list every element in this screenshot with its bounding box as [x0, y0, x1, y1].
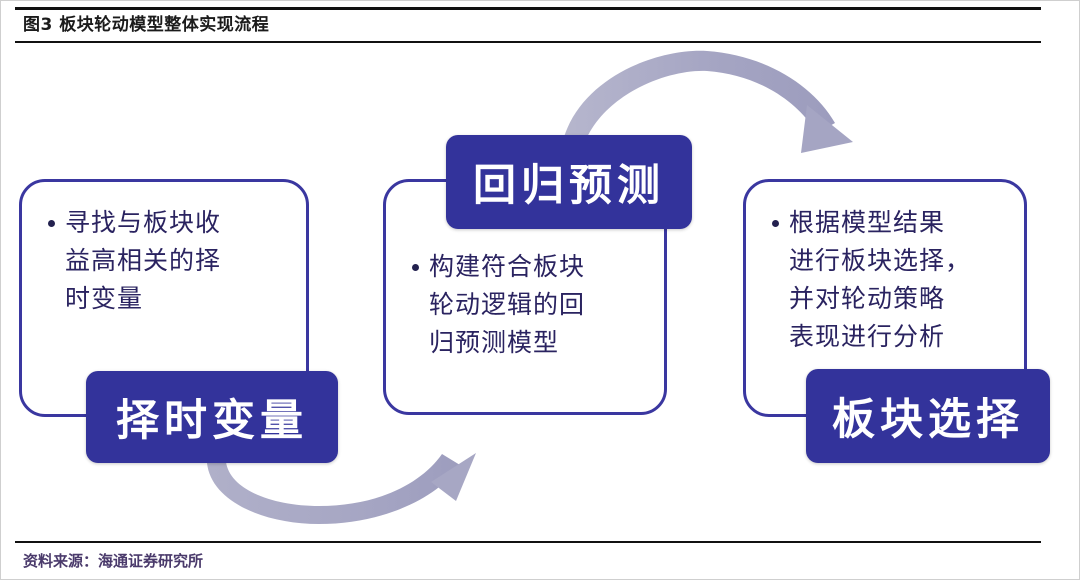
figure-source: 资料来源：海通证券研究所 [23, 549, 203, 573]
step-card-1-body: 寻找与板块收 益高相关的择 时变量 [48, 204, 292, 318]
step-plaque-3[interactable]: 板块选择 [806, 369, 1050, 463]
figure-title: 图3 板块轮动模型整体实现流程 [23, 11, 269, 40]
step-plaque-3-label: 板块选择 [832, 385, 1024, 447]
title-rule-bottom [15, 41, 1041, 43]
figure-container: 图3 板块轮动模型整体实现流程 [0, 0, 1080, 580]
bullet-dot-icon [772, 220, 779, 227]
bullet-dot-icon [48, 220, 55, 227]
step-card-1-text: 寻找与板块收 益高相关的择 时变量 [65, 204, 221, 318]
title-rule-top [15, 7, 1041, 10]
step-card-3-body: 根据模型结果 进行板块选择， 并对轮动策略 表现进行分析 [772, 204, 1010, 356]
source-rule [15, 541, 1041, 543]
bullet-dot-icon [412, 264, 419, 271]
step-card-2-body: 构建符合板块 轮动逻辑的回 归预测模型 [412, 248, 650, 362]
step-plaque-2[interactable]: 回归预测 [446, 135, 692, 229]
step-card-2-text: 构建符合板块 轮动逻辑的回 归预测模型 [429, 248, 585, 362]
arrow-step1-to-step2 [207, 453, 476, 524]
step-plaque-1[interactable]: 择时变量 [86, 371, 338, 463]
step-plaque-1-label: 择时变量 [116, 386, 308, 448]
step-card-3-text: 根据模型结果 进行板块选择， 并对轮动策略 表现进行分析 [789, 204, 971, 356]
step-plaque-2-label: 回归预测 [473, 151, 665, 213]
